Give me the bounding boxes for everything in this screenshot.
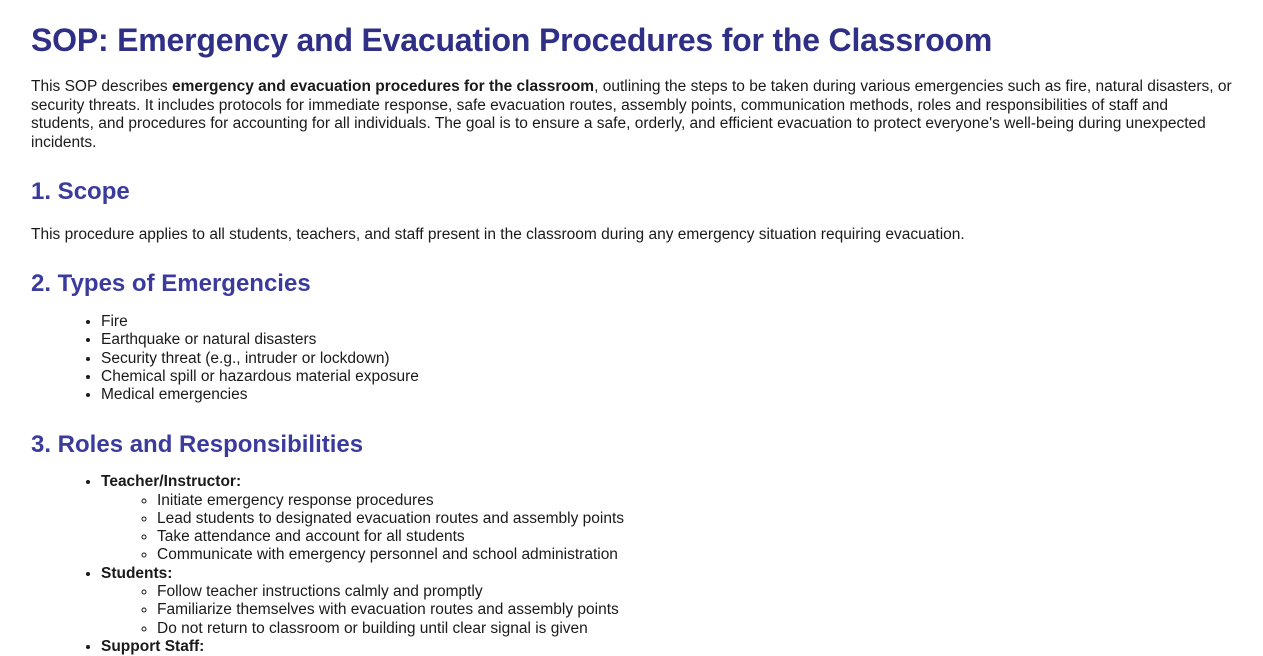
role-duties-list: Initiate emergency response procedures L… [101,492,1232,565]
list-item: Medical emergencies [101,386,1232,404]
list-item: Support Staff: [101,638,1232,656]
list-item: Students: Follow teacher instructions ca… [101,565,1232,638]
section-paragraph-scope: This procedure applies to all students, … [31,226,1232,244]
role-label: Teacher/Instructor: [101,473,241,490]
role-label: Support Staff: [101,638,204,655]
list-item: Teacher/Instructor: Initiate emergency r… [101,473,1232,564]
list-item: Do not return to classroom or building u… [157,620,1232,638]
list-item: Security threat (e.g., intruder or lockd… [101,350,1232,368]
section-heading-types-of-emergencies: 2. Types of Emergencies [31,270,1232,299]
role-duties-list: Follow teacher instructions calmly and p… [101,583,1232,638]
list-item: Earthquake or natural disasters [101,331,1232,349]
list-item: Follow teacher instructions calmly and p… [157,583,1232,601]
list-item: Familiarize themselves with evacuation r… [157,601,1232,619]
document-page: SOP: Emergency and Evacuation Procedures… [0,0,1263,656]
list-item: Initiate emergency response procedures [157,492,1232,510]
intro-paragraph: This SOP describes emergency and evacuat… [31,78,1232,152]
intro-lead-bold: emergency and evacuation procedures for … [172,78,594,95]
list-item: Fire [101,313,1232,331]
intro-lead-before: This SOP describes [31,78,172,95]
emergency-types-list: Fire Earthquake or natural disasters Sec… [31,313,1232,404]
role-label: Students: [101,565,172,582]
list-item: Chemical spill or hazardous material exp… [101,368,1232,386]
list-item: Take attendance and account for all stud… [157,528,1232,546]
page-title: SOP: Emergency and Evacuation Procedures… [31,21,1232,59]
list-item: Lead students to designated evacuation r… [157,510,1232,528]
section-heading-scope: 1. Scope [31,178,1232,207]
list-item: Communicate with emergency personnel and… [157,546,1232,564]
section-heading-roles-and-responsibilities: 3. Roles and Responsibilities [31,431,1232,460]
roles-list: Teacher/Instructor: Initiate emergency r… [31,473,1232,656]
